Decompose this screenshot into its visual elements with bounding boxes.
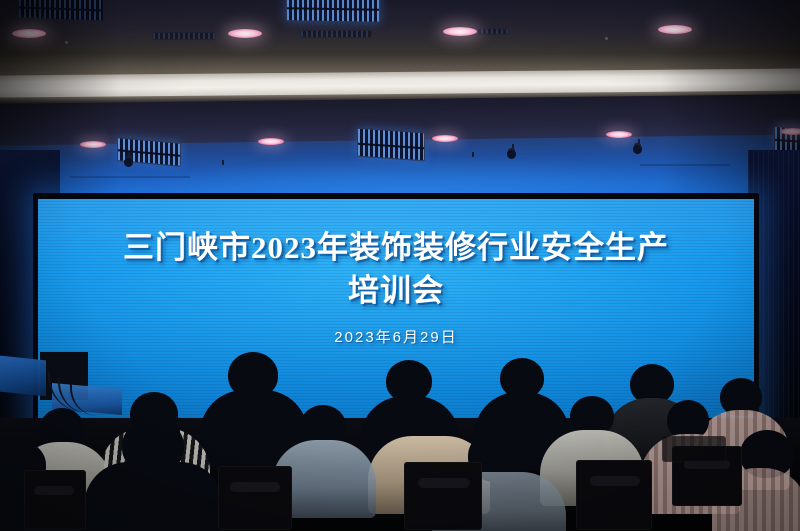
chair-backrest-slot [230, 482, 280, 492]
chair-backrest-slot [34, 486, 74, 495]
attendee-body [84, 462, 224, 531]
ceiling-fixture-dot [65, 41, 68, 44]
ceiling-downlight [432, 135, 458, 142]
led-screen[interactable]: 三门峡市2023年装饰装修行业安全生产 培训会 2023年6月29日 [38, 199, 754, 439]
chair [404, 462, 482, 530]
ceiling-downlight [228, 29, 262, 38]
slide-date: 2023年6月29日 [334, 326, 457, 347]
chair [218, 466, 292, 530]
chair [576, 460, 652, 530]
conference-hall-photo: 三门峡市2023年装饰装修行业安全生产 培训会 2023年6月29日 [0, 0, 800, 531]
slide-title-line-1: 三门峡市2023年装饰装修行业安全生产 [123, 231, 669, 266]
slide-content: 三门峡市2023年装饰装修行业安全生产 培训会 2023年6月29日 [38, 199, 754, 439]
air-vent-icon [286, 0, 380, 23]
ceiling-downlight [606, 131, 632, 138]
chair-backrest-slot [418, 478, 470, 488]
air-vent-icon [300, 30, 372, 38]
ceiling-downlight [780, 128, 800, 135]
chair-backrest-slot [590, 476, 640, 486]
ceiling-downlight [658, 25, 692, 34]
air-vent-icon [152, 32, 216, 40]
air-vent-icon [18, 0, 104, 22]
ceiling-downlight [80, 141, 106, 148]
chair [662, 436, 726, 462]
slide-title-line-2: 培训会 [348, 274, 444, 309]
chair [24, 470, 86, 530]
ceiling-downlight [12, 29, 46, 38]
ceiling-downlight [443, 27, 477, 36]
ceiling-fixture-dot [605, 37, 608, 40]
ceiling-downlight [258, 138, 284, 145]
ceiling-upper-recess [0, 0, 800, 80]
